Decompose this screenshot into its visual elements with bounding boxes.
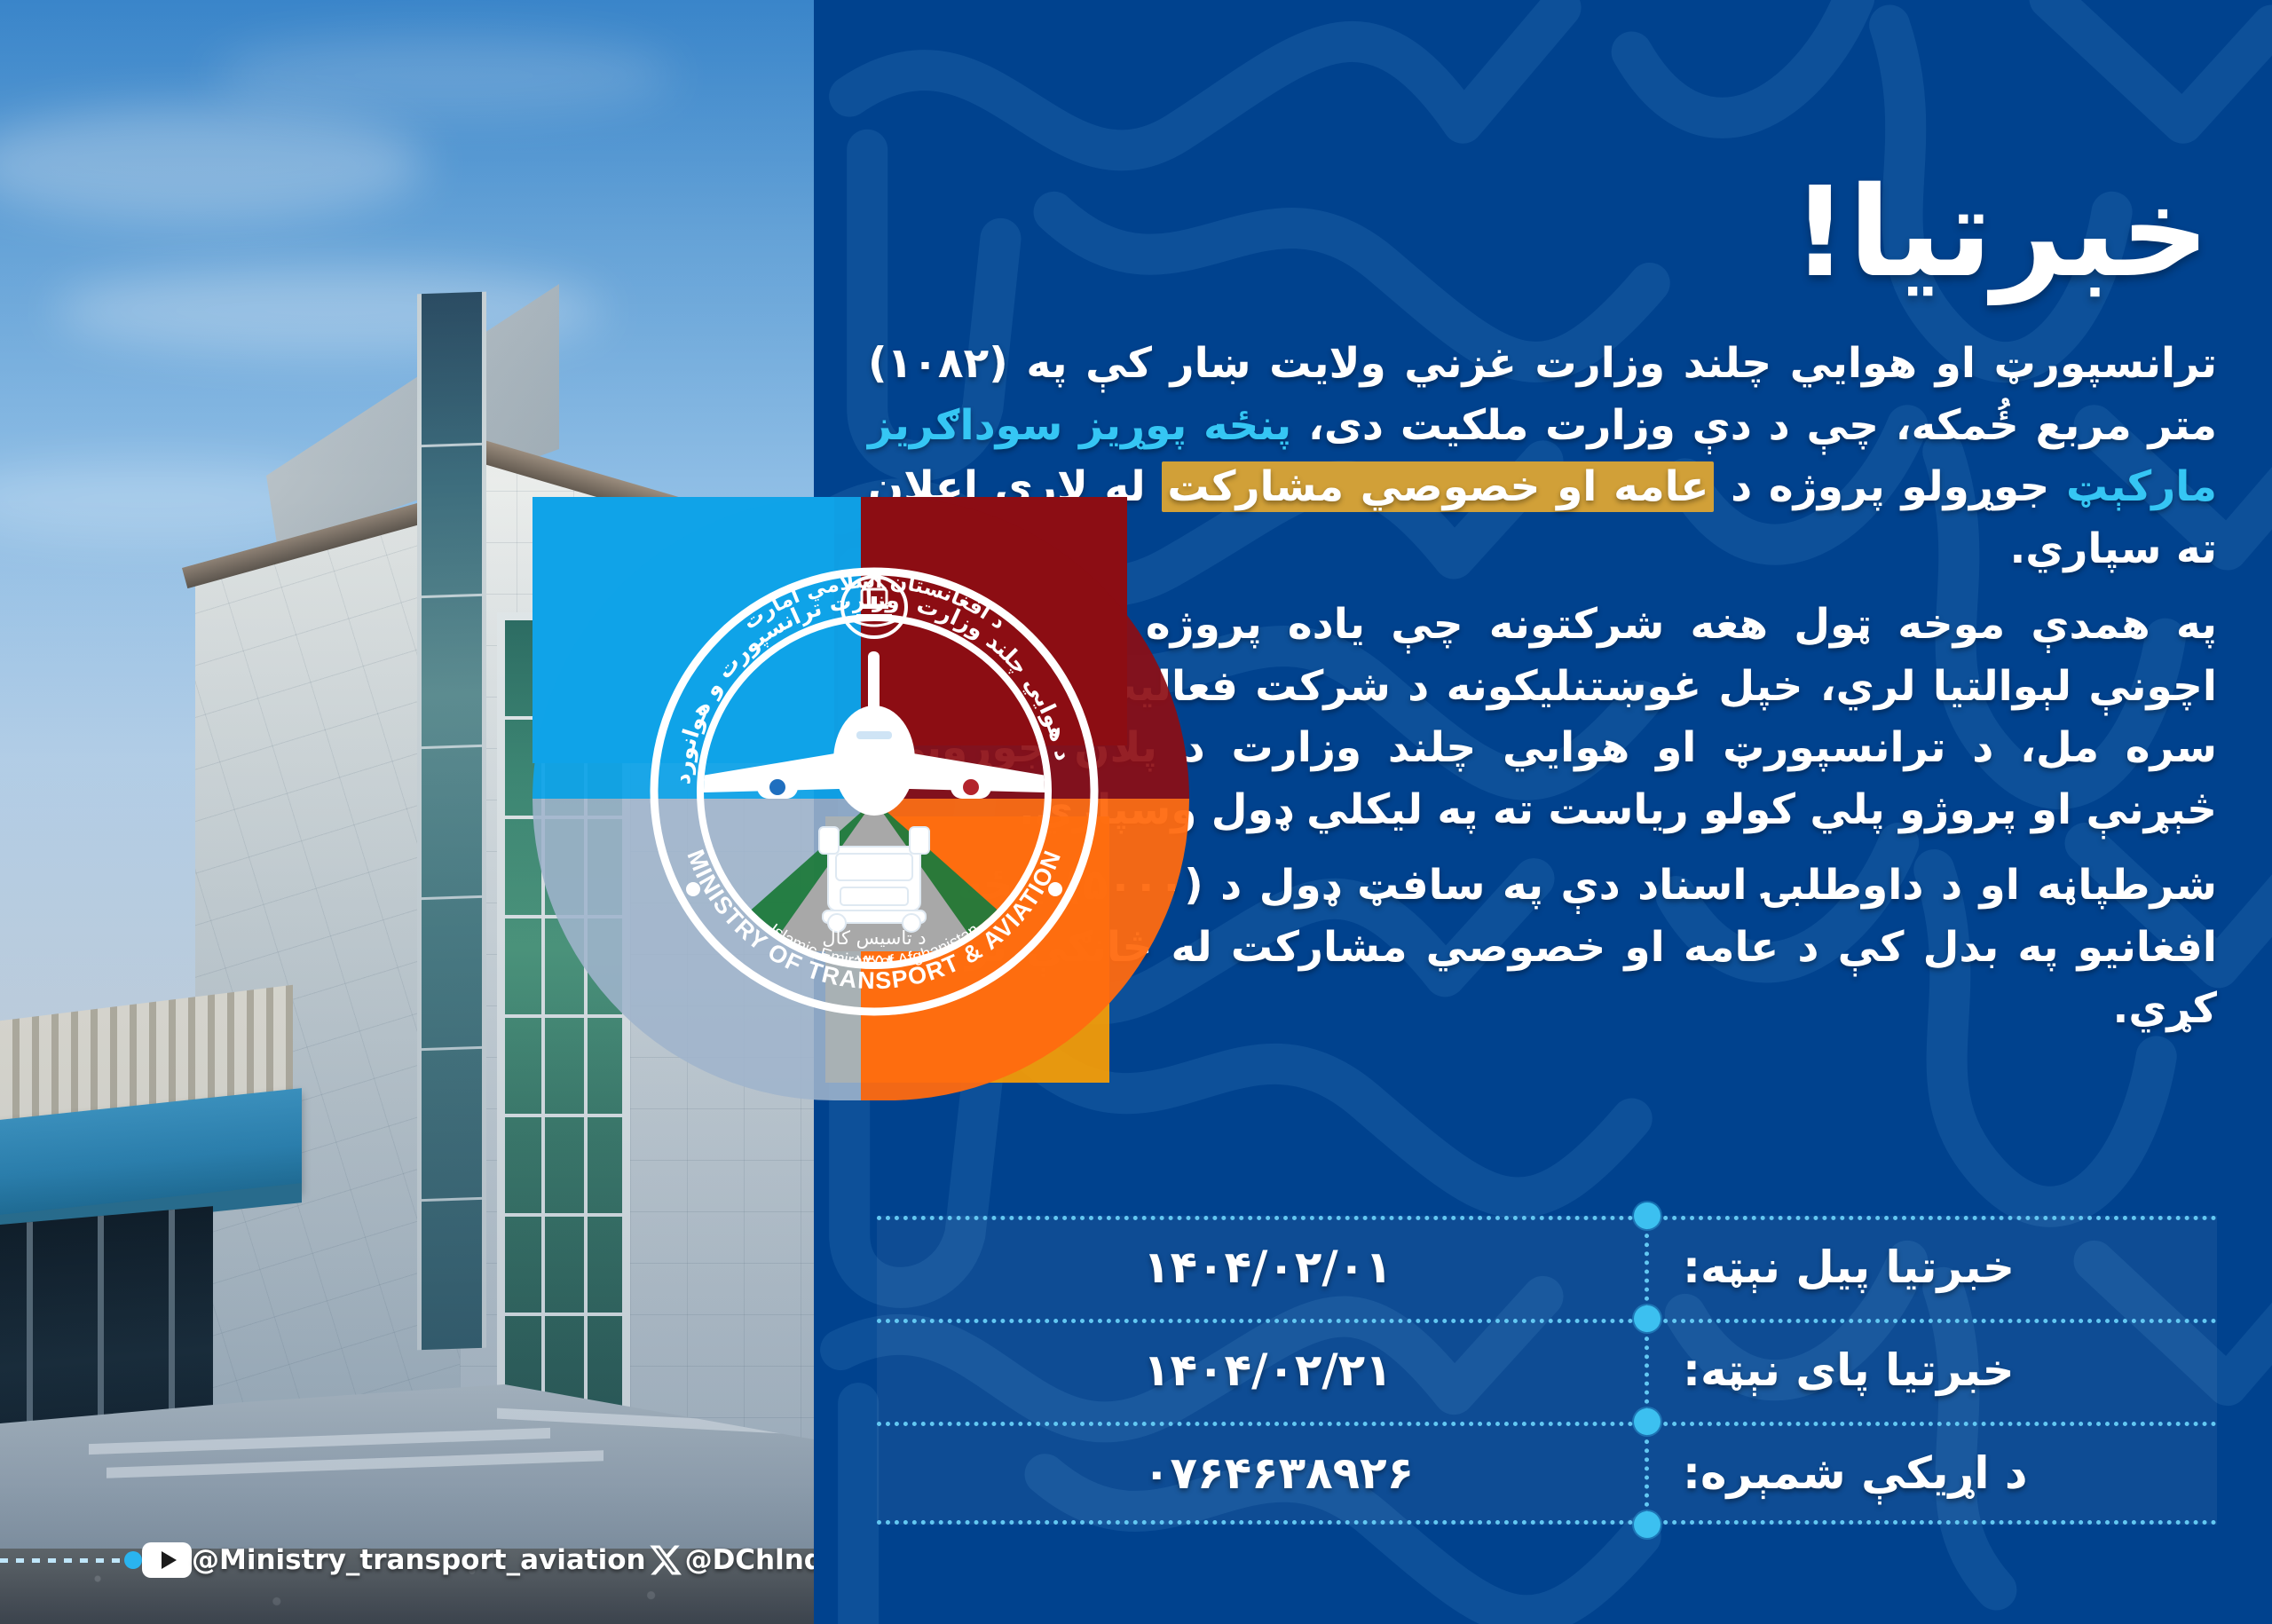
youtube-icon[interactable] [142, 1542, 192, 1578]
row-label: د اړیکې شمېره: [1649, 1447, 2217, 1499]
row-value: ۱۴۰۴/۰۲/۲۱ [877, 1344, 1649, 1396]
emblem-ring-pashto-right: د هوایي چلند وزارت [914, 592, 1077, 763]
info-table: خبرتیا پیل نېټه: ۱۴۰۴/۰۲/۰۱ خبرتیا پای ن… [877, 1216, 2217, 1525]
social-media-bar: @Ministry_transport_aviation @DChlnd [0, 1533, 814, 1587]
poster-root: @Ministry_transport_aviation @DChlnd [0, 0, 2272, 1624]
youtube-handle[interactable]: @Ministry_transport_aviation [192, 1544, 646, 1576]
p1-highlight-gold: عامه او خصوصي مشارکت [1162, 461, 1714, 512]
row-value: ۱۴۰۴/۰۲/۰۱ [877, 1242, 1649, 1293]
page-title: خبرتیا! [1792, 168, 2210, 298]
emblem-founded-year: ۱۳۵۸ [854, 950, 894, 972]
motca-seal: د افغانستان اسلامي امارت وزارت ترانسپورت… [617, 534, 1132, 1049]
table-row: خبرتیا پیل نېټه: ۱۴۰۴/۰۲/۰۱ [877, 1216, 2217, 1319]
emblem-founded-label: د تاسیس کال [822, 927, 926, 949]
x-twitter-icon[interactable] [646, 1541, 685, 1580]
p1-mid: جوړولو پروژه د [1714, 462, 2066, 511]
bullet-dot [124, 1551, 142, 1569]
x-handle[interactable]: @DChlnd [685, 1544, 814, 1576]
ministry-emblem-graphic: د افغانستان اسلامي امارت وزارت ترانسپورت… [532, 497, 1189, 1100]
row-label: خبرتیا پیل نېټه: [1649, 1242, 2217, 1293]
dashed-rule-left [0, 1558, 124, 1563]
row-value: ۰۷۶۴۶۳۸۹۲۶ [877, 1447, 1649, 1499]
table-row: د اړیکې شمېره: ۰۷۶۴۶۳۸۹۲۶ [877, 1422, 2217, 1525]
table-row: خبرتیا پای نېټه: ۱۴۰۴/۰۲/۲۱ [877, 1319, 2217, 1422]
svg-text:د هوایي چلند وزارت: د هوایي چلند وزارت [914, 592, 1077, 763]
row-label: خبرتیا پای نېټه: [1649, 1344, 2217, 1396]
